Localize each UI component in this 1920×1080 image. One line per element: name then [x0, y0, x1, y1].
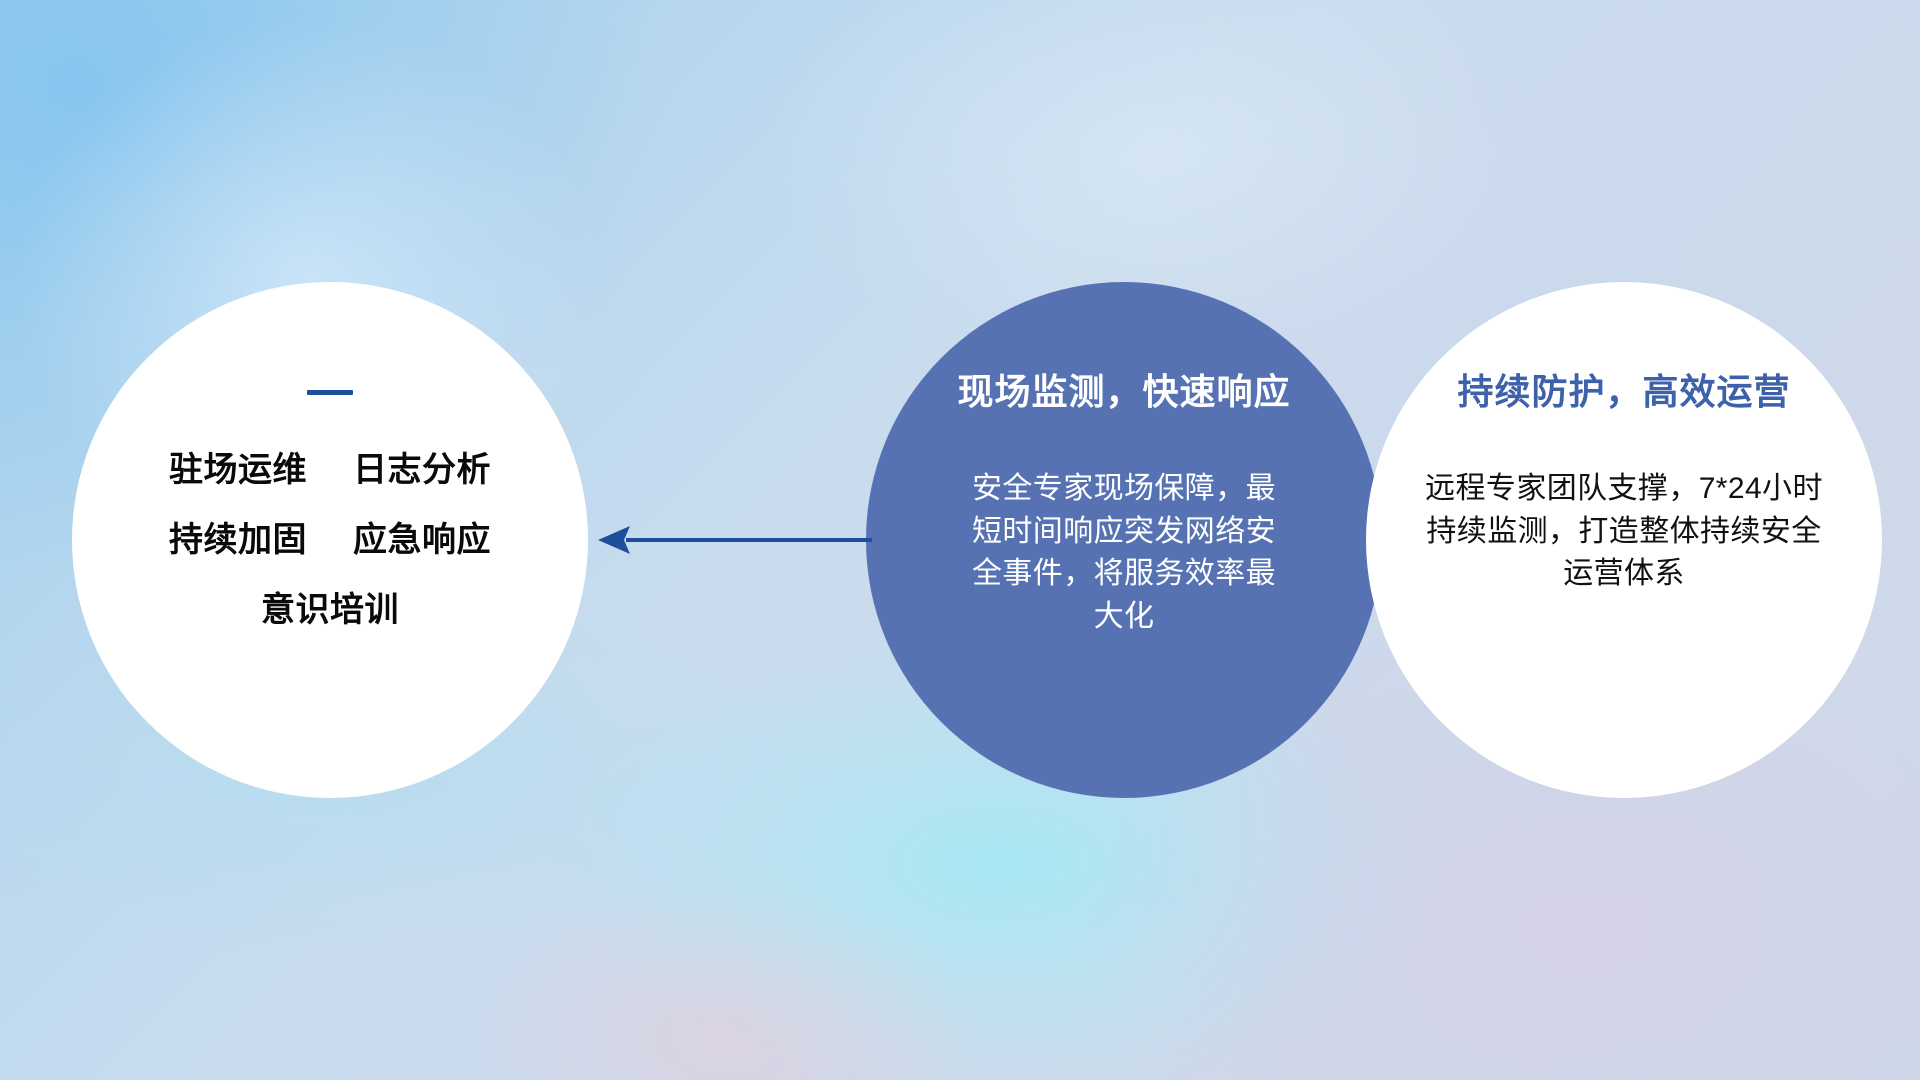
right-circle-title: 持续防护，高效运营: [1457, 374, 1790, 410]
service-keyword-awareness-training: 意识培训: [261, 591, 399, 629]
center-circle-body: 安全专家现场保障，最短时间响应突发网络安全事件，将服务效率最大化: [969, 468, 1279, 638]
center-circle-content: 现场监测，快速响应 安全专家现场保障，最短时间响应突发网络安全事件，将服务效率最…: [866, 282, 1382, 798]
service-keyword-log-analysis: 日志分析: [353, 451, 491, 489]
right-circle-content: 持续防护，高效运营 远程专家团队支撑，7*24小时持续监测，打造整体持续安全运营…: [1366, 282, 1882, 798]
service-keyword-hardening: 持续加固: [169, 521, 307, 559]
left-divider-dash: [307, 390, 353, 395]
service-keyword-row-2: 持续加固 应急响应: [169, 523, 491, 557]
service-keyword-emergency-response: 应急响应: [353, 521, 491, 559]
leftward-flow-arrow-icon: [596, 516, 872, 564]
service-keyword-row-3: 意识培训: [261, 593, 399, 627]
service-keyword-onsite-ops: 驻场运维: [169, 451, 307, 489]
service-keyword-row-1: 驻场运维 日志分析: [169, 453, 491, 487]
left-circle-content: 驻场运维 日志分析 持续加固 应急响应 意识培训: [72, 282, 588, 798]
right-circle-body: 远程专家团队支撑，7*24小时持续监测，打造整体持续安全运营体系: [1414, 468, 1834, 596]
center-circle-title: 现场监测，快速响应: [957, 374, 1290, 410]
